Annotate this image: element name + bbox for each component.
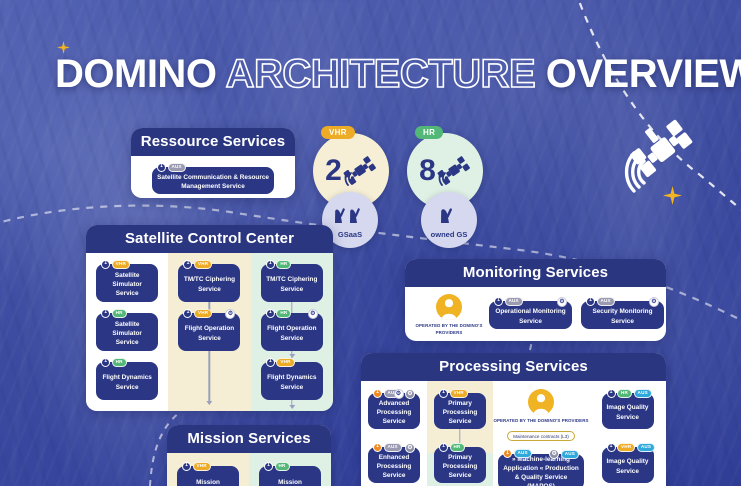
badge-number: 1 — [373, 443, 382, 452]
badge-number: 1 — [183, 309, 192, 318]
card-badges-right: ⚙ — [308, 309, 318, 319]
badge-aux: AUX — [505, 297, 523, 306]
card-badges: 1 AUX — [586, 297, 615, 306]
badge-vhr: VHR — [450, 389, 468, 398]
satellite-icon — [343, 156, 377, 186]
proc-column-1: 1 AUX ⚙ ⚙ Advanced Processing Service 1 … — [361, 381, 427, 486]
badge-hr: HR — [450, 443, 465, 452]
service-card[interactable]: 1 HR Flight Dynamics Service — [96, 362, 158, 400]
gear-icon[interactable]: ⚙ — [557, 297, 567, 307]
owned-gs-label: owned GS — [421, 230, 477, 239]
service-card[interactable]: 1 HR Mission — [259, 466, 321, 486]
service-card[interactable]: 1 AUX ⚙ Operational Monitoring Service — [489, 301, 572, 329]
badge-number: 1 — [607, 443, 616, 452]
card-badges: 1 HR — [264, 462, 290, 471]
service-label: Primary Processing Service — [439, 399, 481, 427]
card-badges: 1 HR — [101, 309, 127, 318]
panel-processing-services: Processing Services 1 AUX ⚙ ⚙ Advanced P… — [361, 353, 666, 486]
card-badges: 1 AUX — [157, 163, 186, 172]
badge-number: 1 — [101, 309, 110, 318]
panel-ressource-services: Ressource Services 1 AUX Satellite Commu… — [131, 128, 295, 198]
badge-vhr: VHR — [321, 126, 355, 139]
service-card[interactable]: 1 HR AUS Image Quality Service — [602, 393, 654, 429]
panel-monitoring-services: Monitoring Services OPERATED BY THE DOMI… — [405, 259, 666, 341]
card-badges: 1 VHR — [101, 260, 130, 269]
badge-number: 1 — [586, 297, 595, 306]
proc-column-2: 1 VHR Primary Processing Service 1 HR Pr… — [427, 381, 493, 486]
service-label: Flight Dynamics Service — [101, 373, 153, 392]
card-badges-right: ⚙ — [649, 297, 659, 307]
badge-hr: HR — [617, 389, 632, 398]
service-card[interactable]: 1 AUX ⚙ Enhanced Processing Service — [368, 447, 420, 483]
architecture-poster: DOMINO ARCHITECTURE OVERVIEW Ressource S… — [0, 0, 741, 486]
badge-hr: HR — [112, 309, 127, 318]
scc-column-1: 1 VHR Satellite Simulator Service 1 HR S… — [86, 253, 168, 411]
badge-number: 1 — [266, 260, 275, 269]
card-badges-right: ⚙ AUS — [549, 449, 579, 459]
ground-station-owned[interactable]: owned GS — [421, 192, 477, 248]
operator-caption: OPERATED BY THE DOMINO'S PROVIDERS — [412, 323, 486, 336]
badge-aus: AUS — [514, 449, 532, 458]
card-badges: 1 HR AUS — [607, 389, 652, 398]
service-card[interactable]: 1 AUS ⚙ AUS » Machine-learning Applicati… — [498, 454, 584, 486]
satellite-icon — [614, 105, 710, 197]
service-card[interactable]: 1 VHR AUS Image Quality Service — [602, 447, 654, 483]
gear-icon[interactable]: ⚙ — [308, 309, 318, 319]
gear-icon[interactable]: ⚙ — [405, 389, 415, 399]
service-label: Security Monitoring Service — [586, 307, 659, 326]
badge-hr: HR — [276, 260, 291, 269]
card-badges: 1 VHR — [266, 358, 295, 367]
badge-number: 1 — [439, 389, 448, 398]
gear-icon[interactable]: ⚙ — [549, 449, 559, 459]
badge-hr: HR — [275, 462, 290, 471]
page-title: DOMINO ARCHITECTURE OVERVIEW — [55, 52, 741, 97]
panel-title: Satellite Control Center — [86, 225, 333, 253]
service-label: Mission — [278, 478, 302, 486]
service-card[interactable]: 1 HR Primary Processing Service — [434, 447, 486, 483]
card-badges: 1 VHR — [183, 260, 212, 269]
gear-icon[interactable]: ⚙ — [649, 297, 659, 307]
badge-number: 1 — [439, 443, 448, 452]
service-label: Primary Processing Service — [439, 453, 481, 481]
badge-number: 1 — [101, 260, 110, 269]
badge-number: 1 — [494, 297, 503, 306]
card-badges-right: ⚙ — [557, 297, 567, 307]
maintenance-contract-badge: Maintenance contracts (L3) — [507, 431, 575, 441]
card-badges: 1 AUX — [494, 297, 523, 306]
service-card[interactable]: 1 VHR Flight Dynamics Service — [261, 362, 323, 400]
hr-satellite-count: 8 — [419, 156, 436, 186]
badge-number: 1 — [101, 358, 110, 367]
service-label: Flight Dynamics Service — [266, 373, 318, 392]
card-badges: 1 VHR — [182, 462, 211, 471]
card-badges-right: ⚙ ⚙ — [394, 389, 416, 399]
badge-number: 1 — [503, 449, 512, 458]
badge-aus: AUS — [634, 389, 652, 398]
service-label: TM/TC Ciphering Service — [266, 275, 318, 294]
title-part-architecture: ARCHITECTURE — [226, 52, 536, 96]
service-card[interactable]: 1 AUX ⚙ Security Monitoring Service — [581, 301, 664, 329]
card-badges: 1 VHR — [183, 309, 212, 318]
panel-title: Monitoring Services — [405, 259, 666, 287]
monitoring-operator: OPERATED BY THE DOMINO'S PROVIDERS — [412, 294, 486, 336]
gear-icon[interactable]: ⚙ — [394, 389, 404, 399]
double-antenna-icon — [334, 206, 366, 226]
badge-number: 1 — [607, 389, 616, 398]
vhr-satellite-count: 2 — [325, 156, 342, 186]
service-label: » Machine-learning Application « Product… — [503, 455, 579, 486]
title-part-overview: OVERVIEW — [546, 52, 741, 96]
user-avatar-icon — [436, 294, 462, 320]
scc-column-3: 1 HR TM/TC Ciphering Service 1 HR ⚙ Flig… — [251, 253, 333, 411]
service-card[interactable]: 1 VHR TM/TC Ciphering Service — [178, 264, 240, 302]
service-card[interactable]: 1 AUX ⚙ ⚙ Advanced Processing Service — [368, 393, 420, 429]
user-avatar-icon — [528, 389, 554, 415]
panel-title: Processing Services — [361, 353, 666, 381]
badge-number: 1 — [266, 358, 275, 367]
proc-column-4: 1 HR AUS Image Quality Service 1 VHR AUS… — [589, 381, 666, 486]
badge-hr: HR — [112, 358, 127, 367]
badge-number: 1 — [157, 163, 166, 172]
service-label: Image Quality Service — [607, 457, 649, 476]
service-label: Satellite Simulator Service — [101, 271, 153, 299]
service-label: Image Quality Service — [607, 403, 649, 422]
service-label: Mission — [196, 478, 220, 486]
satellite-icon — [437, 156, 471, 186]
card-badges: 1 HR — [439, 443, 465, 452]
service-card[interactable]: 1 HR ⚙ Flight Operation Service — [261, 313, 323, 351]
card-badges-right: ⚙ — [405, 443, 415, 453]
panel-mission-services: Mission Services 1 VHR Mission 1 HR — [167, 425, 331, 486]
badge-vhr: VHR — [193, 462, 211, 471]
service-card[interactable]: 1 HR TM/TC Ciphering Service — [261, 264, 323, 302]
card-badges: 1 AUS — [503, 449, 532, 458]
badge-number: 1 — [183, 260, 192, 269]
badge-hr: HR — [415, 126, 443, 139]
card-badges: 1 HR — [266, 309, 292, 318]
scc-column-2: 1 VHR TM/TC Ciphering Service 1 VHR ⚙ Fl… — [168, 253, 250, 411]
card-badges: 1 HR — [266, 260, 292, 269]
service-card[interactable]: 1 VHR Satellite Simulator Service — [96, 264, 158, 302]
service-card[interactable]: 1 VHR Primary Processing Service — [434, 393, 486, 429]
service-card[interactable]: 1 AUX Satellite Communication & Resource… — [152, 167, 274, 194]
mission-column-2: 1 HR Mission — [249, 453, 331, 486]
service-card[interactable]: 1 HR Satellite Simulator Service — [96, 313, 158, 351]
service-card[interactable]: 1 VHR Mission — [177, 466, 239, 486]
badge-vhr: VHR — [194, 309, 212, 318]
gear-icon[interactable]: ⚙ — [405, 443, 415, 453]
badge-vhr: VHR — [276, 358, 294, 367]
service-label: TM/TC Ciphering Service — [183, 275, 235, 294]
panel-satellite-control-center: Satellite Control Center 1 VHR Satellite… — [86, 225, 333, 411]
badge-vhr: VHR — [112, 260, 130, 269]
panel-title: Ressource Services — [131, 128, 295, 156]
card-badges: 1 AUX — [373, 443, 402, 452]
service-label: Satellite Simulator Service — [101, 320, 153, 348]
badge-vhr: VHR — [194, 260, 212, 269]
service-card[interactable]: 1 VHR ⚙ Flight Operation Service — [178, 313, 240, 351]
badge-aux: AUX — [597, 297, 615, 306]
service-label: Operational Monitoring Service — [494, 307, 567, 326]
proc-column-3: OPERATED BY THE DOMINO'S PROVIDERS Maint… — [493, 381, 589, 486]
badge-aux: AUX — [384, 443, 402, 452]
antenna-icon — [437, 206, 461, 226]
operator-caption: OPERATED BY THE DOMINO'S PROVIDERS — [493, 418, 589, 425]
badge-number: 1 — [264, 462, 273, 471]
card-badges: 1 HR — [101, 358, 127, 367]
badge-aux: AUX — [168, 163, 186, 172]
mission-column-1: 1 VHR Mission — [167, 453, 249, 486]
service-label: Enhanced Processing Service — [373, 453, 415, 481]
badge-aus: AUS — [561, 450, 579, 459]
card-badges: 1 VHR — [439, 389, 468, 398]
card-badges: 1 VHR AUS — [607, 443, 656, 452]
badge-number: 1 — [373, 389, 382, 398]
card-badges-right: ⚙ — [225, 309, 235, 319]
title-part-domino: DOMINO — [55, 52, 216, 96]
service-label: Satellite Communication & Resource Manag… — [157, 173, 269, 192]
badge-number: 1 — [182, 462, 191, 471]
badge-aus: AUS — [637, 443, 655, 452]
processing-operator: OPERATED BY THE DOMINO'S PROVIDERS Maint… — [493, 389, 589, 443]
gear-icon[interactable]: ⚙ — [225, 309, 235, 319]
panel-title: Mission Services — [167, 425, 331, 453]
service-label: Advanced Processing Service — [373, 399, 415, 427]
badge-vhr: VHR — [617, 443, 635, 452]
service-label: Flight Operation Service — [266, 324, 318, 343]
service-label: Flight Operation Service — [183, 324, 235, 343]
badge-hr: HR — [276, 309, 291, 318]
badge-number: 1 — [266, 309, 275, 318]
